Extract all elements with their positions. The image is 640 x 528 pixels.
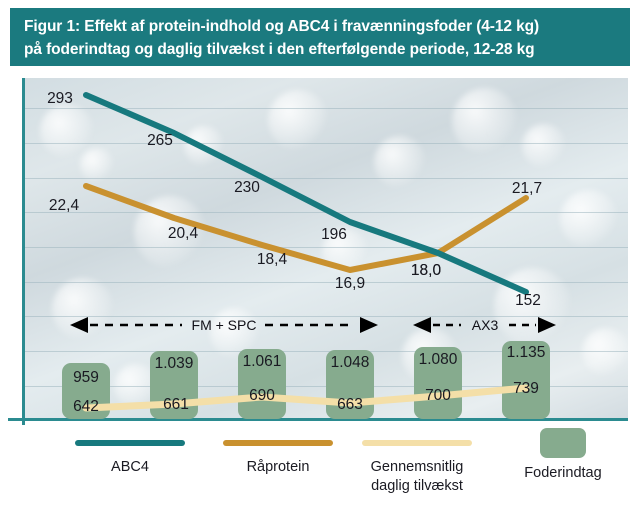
legend-swatch-foderindtag-icon [540, 428, 586, 458]
data-label-abc4: 152 [515, 292, 541, 309]
arrow-right-icon [360, 317, 378, 333]
bar-label-foderindtag: 1.080 [419, 351, 458, 368]
bar-label-foderindtag: 1.135 [507, 344, 546, 361]
legend-label-raaprotein: Råprotein [208, 458, 348, 477]
legend-swatch-tilvaekst-icon [362, 440, 472, 446]
data-label-abc4: 265 [147, 132, 173, 149]
legend-label-tilvaekst-line1: Gennemsnitlig [352, 458, 482, 477]
data-label-raaprotein: 18,4 [257, 251, 288, 268]
data-label-raaprotein: 16,9 [335, 275, 365, 292]
labels-foderindtag: 959 1.039 1.061 1.048 1.080 1.135 [73, 344, 545, 386]
data-label-abc4: 293 [47, 90, 73, 107]
data-label-tilvaekst: 661 [163, 396, 189, 413]
legend-swatch-raaprotein-icon [223, 440, 333, 446]
data-label-abc4: 196 [321, 226, 347, 243]
arrow-right-icon [538, 317, 556, 333]
bar-label-foderindtag: 1.039 [155, 355, 194, 372]
data-label-tilvaekst: 700 [425, 387, 451, 404]
chart-legend: ABC4 Råprotein Gennemsnitlig daglig tilv… [22, 428, 640, 524]
data-label-raaprotein: 22,4 [49, 197, 80, 214]
data-label-tilvaekst: 663 [337, 396, 363, 413]
data-label-tilvaekst: 642 [73, 398, 99, 415]
legend-label-abc4: ABC4 [60, 458, 200, 477]
legend-label-foderindtag: Foderindtag [498, 464, 628, 483]
group-bracket-fm-spc: FM + SPC [70, 317, 378, 333]
data-label-abc4: 230 [234, 179, 260, 196]
bar-label-foderindtag: 1.048 [331, 354, 370, 371]
group-bracket-ax3: AX3 [413, 317, 556, 333]
group-label-ax3: AX3 [472, 317, 499, 333]
data-label-tilvaekst: 690 [249, 387, 275, 404]
data-label-raaprotein: 21,7 [512, 180, 542, 197]
arrow-left-icon [70, 317, 88, 333]
legend-label-tilvaekst-line2: daglig tilvækst [352, 477, 482, 496]
legend-item-gennemsnitlig-daglig-tilvaekst[interactable]: Gennemsnitlig daglig tilvækst [352, 440, 482, 496]
group-label-fm-spc: FM + SPC [192, 317, 257, 333]
line-abc4 [86, 95, 526, 292]
legend-item-abc4[interactable]: ABC4 [60, 440, 200, 477]
legend-item-foderindtag[interactable]: Foderindtag [498, 428, 628, 483]
arrow-left-icon [413, 317, 431, 333]
bar-label-foderindtag: 1.061 [243, 353, 282, 370]
legend-swatch-abc4-icon [75, 440, 185, 446]
bar-label-foderindtag: 959 [73, 369, 99, 386]
data-label-crossing: 18,0 [411, 262, 442, 279]
figure-container: Figur 1: Effekt af protein-indhold og AB… [0, 0, 640, 528]
data-label-tilvaekst: 739 [513, 380, 539, 397]
legend-item-raaprotein[interactable]: Råprotein [208, 440, 348, 477]
data-label-raaprotein: 20,4 [168, 225, 199, 242]
